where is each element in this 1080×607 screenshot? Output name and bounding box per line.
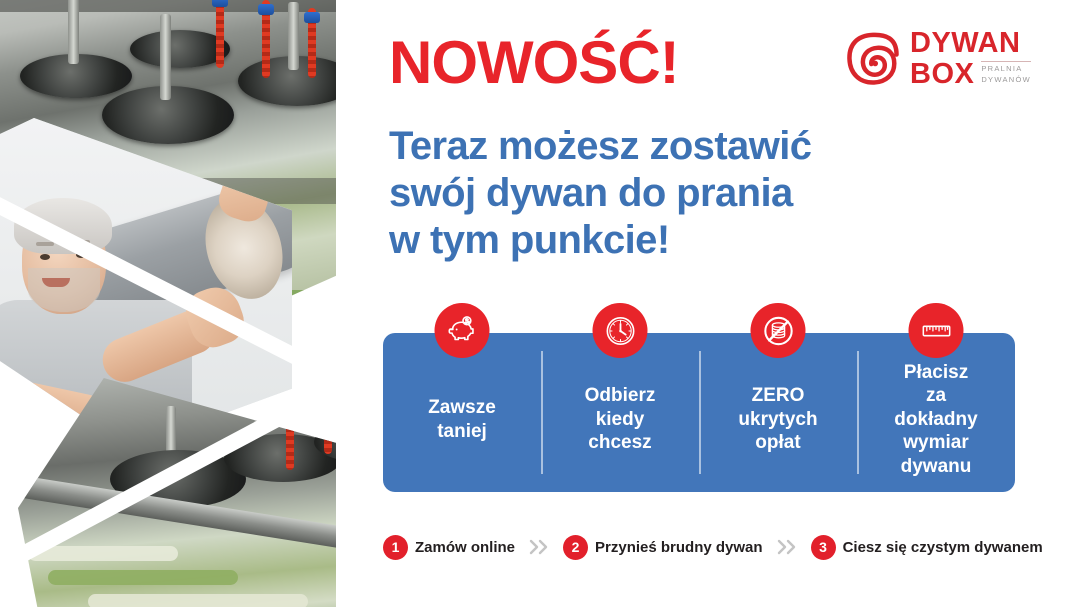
piggy-bank-icon	[435, 303, 490, 358]
feature-item-zero-ukrytych-oplat: ZERO ukrytych opłat	[699, 333, 857, 492]
feature-label: Odbierz kiedy chcesz	[585, 384, 656, 455]
spiral-square-icon	[845, 31, 901, 87]
steps-bar: 1 Zamów online 2 Przynieś brudny dywan 3…	[383, 527, 1077, 567]
ruler-icon	[909, 303, 964, 358]
kicker-headline: NOWOŚĆ!	[389, 33, 679, 93]
step-label: Przynieś brudny dywan	[595, 539, 763, 556]
brand-logo[interactable]: DYWAN BOX PRALNIA DYWANÓW	[845, 28, 1060, 90]
feature-item-odbierz-kiedy-chcesz: Odbierz kiedy chcesz	[541, 333, 699, 492]
no-coins-icon	[751, 303, 806, 358]
step-label: Zamów online	[415, 539, 515, 556]
headline-line-1: Teraz możesz zostawić	[389, 123, 811, 170]
headline-line-2: swój dywan do prania	[389, 170, 811, 217]
step-item-2: 2 Przynieś brudny dywan	[563, 535, 763, 560]
double-chevron-right-icon	[526, 537, 552, 557]
feature-item-placisz-za-dokladny-wymiar: Płacisz za dokładny wymiar dywanu	[857, 333, 1015, 492]
content-area: DYWAN BOX PRALNIA DYWANÓW NOWOŚĆ! Teraz …	[380, 0, 1080, 607]
logo-tagline-line2: DYWANÓW	[981, 75, 1031, 86]
logo-word-dywan: DYWAN	[910, 29, 1031, 58]
step-number-badge: 1	[383, 535, 408, 560]
features-panel: Zawsze taniej Odbierz kiedy c	[383, 333, 1015, 492]
feature-label: ZERO ukrytych opłat	[738, 384, 817, 455]
step-number-badge: 2	[563, 535, 588, 560]
feature-item-zawsze-taniej: Zawsze taniej	[383, 333, 541, 492]
logo-tagline: PRALNIA DYWANÓW	[981, 61, 1031, 89]
step-label: Ciesz się czystym dywanem	[843, 539, 1043, 556]
logo-word-box: BOX	[910, 60, 974, 89]
step-item-1: 1 Zamów online	[383, 535, 515, 560]
step-item-3: 3 Ciesz się czystym dywanem	[811, 535, 1043, 560]
clock-icon	[593, 303, 648, 358]
feature-label: Płacisz za dokładny wymiar dywanu	[894, 361, 977, 479]
double-chevron-right-icon	[774, 537, 800, 557]
logo-tagline-line1: PRALNIA	[981, 64, 1031, 75]
feature-label: Zawsze taniej	[428, 396, 496, 443]
step-number-badge: 3	[811, 535, 836, 560]
main-headline: Teraz możesz zostawić swój dywan do pran…	[389, 123, 811, 263]
headline-line-3: w tym punkcie!	[389, 217, 811, 264]
promo-banner: DYWAN BOX PRALNIA DYWANÓW NOWOŚĆ! Teraz …	[0, 0, 1080, 607]
logo-tagline-rule	[981, 61, 1031, 62]
